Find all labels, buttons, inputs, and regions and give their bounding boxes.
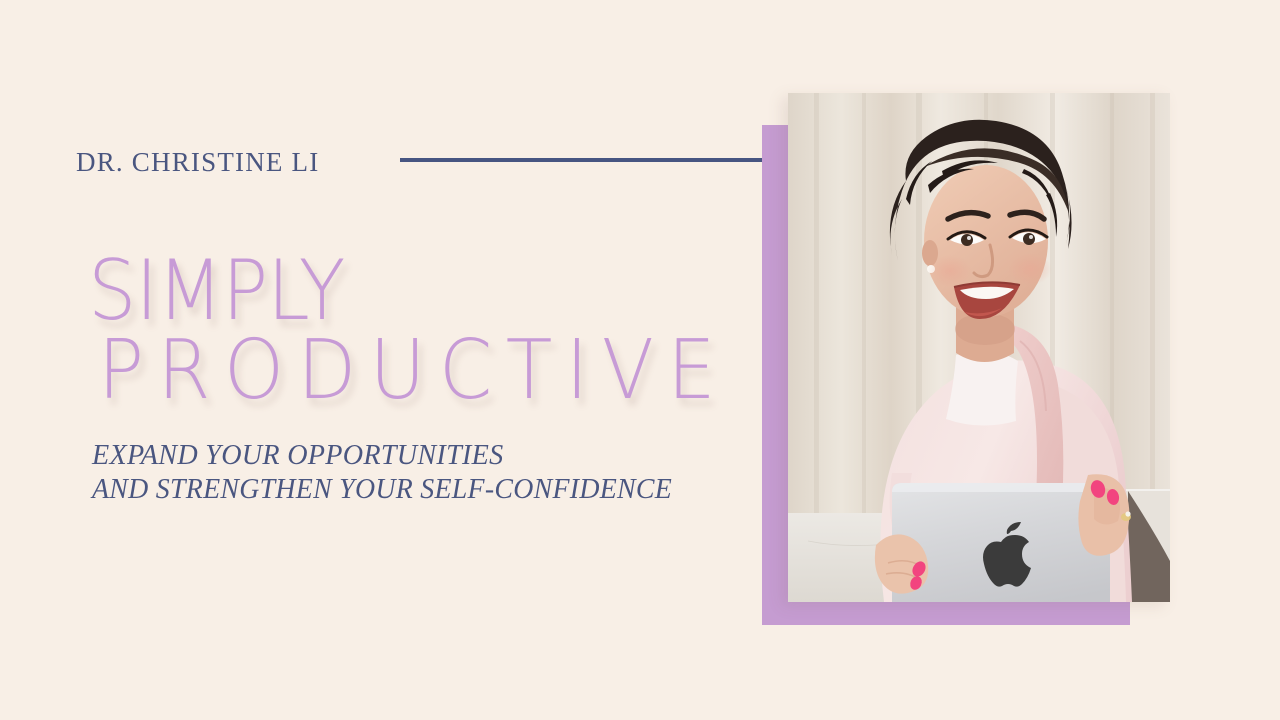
byline-divider-rule <box>400 158 788 162</box>
headline-line-2: PRODUCTIVE <box>98 330 732 412</box>
page-title: SIMPLY PRODUCTIVE <box>0 252 780 412</box>
subtitle-line-2: AND STRENGTHEN YOUR SELF-CONFIDENCE <box>92 472 672 506</box>
headline-line-1: SIMPLY <box>88 252 725 330</box>
portrait-illustration <box>788 93 1170 602</box>
portrait-photo <box>788 93 1170 602</box>
poster-canvas: DR. CHRISTINE LI SIMPLY PRODUCTIVE EXPAN… <box>0 0 1280 720</box>
subtitle: EXPAND YOUR OPPORTUNITIES AND STRENGTHEN… <box>92 438 696 506</box>
subtitle-line-1: EXPAND YOUR OPPORTUNITIES <box>92 438 678 472</box>
byline-author: DR. CHRISTINE LI <box>76 145 319 179</box>
